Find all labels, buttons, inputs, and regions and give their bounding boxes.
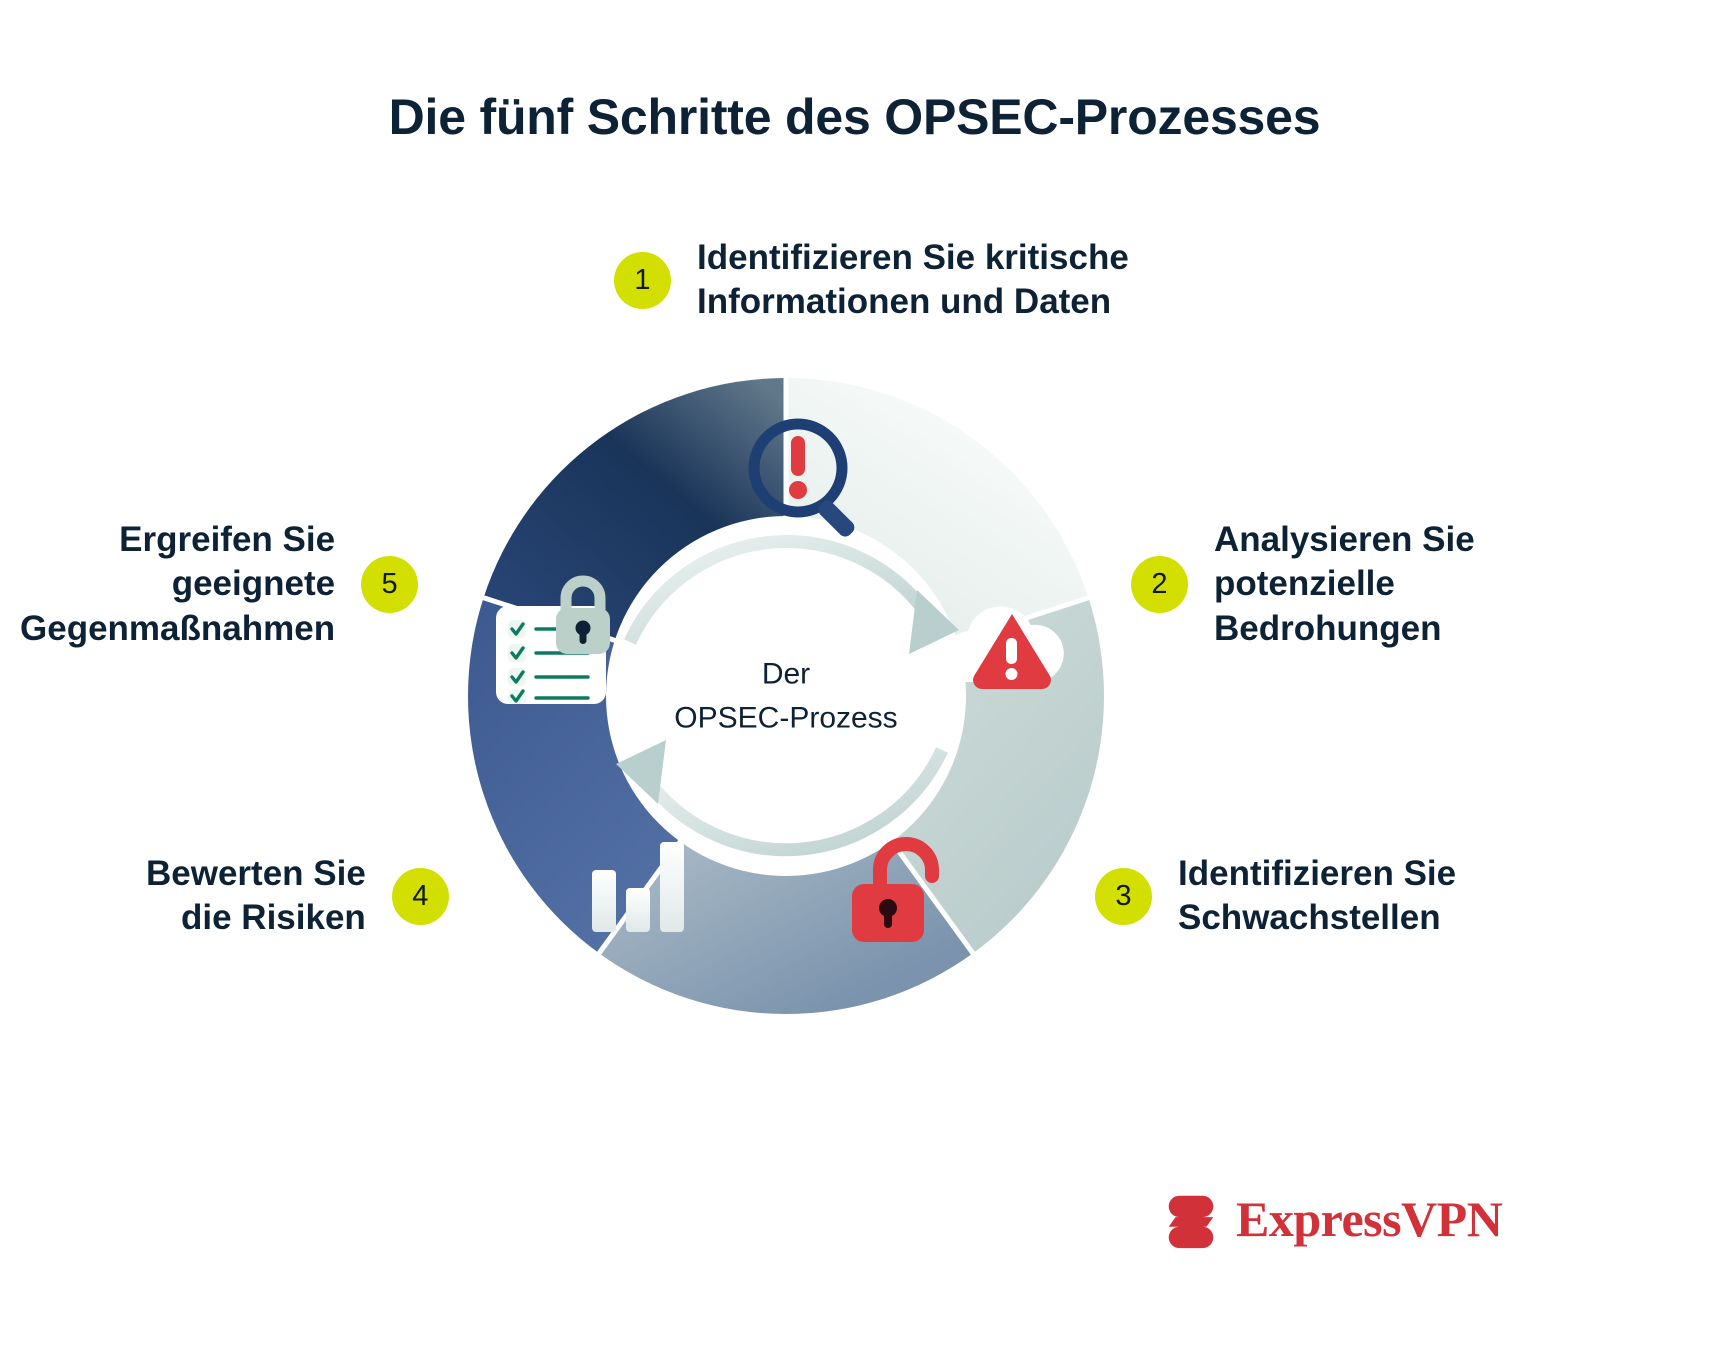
step-5-label: Ergreifen Sie geeignete Gegenmaßnahmen [20,518,335,651]
step-3-label: Identifizieren Sie Schwachstellen [1178,852,1456,941]
page-title: Die fünf Schritte des OPSEC-Prozesses [0,88,1709,146]
step-2-label: Analysieren Sie potenzielle Bedrohungen [1214,518,1475,651]
step-1-badge: 1 [614,252,671,309]
step-1-label: Identifizieren Sie kritische Information… [697,236,1129,325]
donut-hole [606,516,966,876]
step-1[interactable]: 1 Identifizieren Sie kritische Informati… [614,236,1129,325]
step-3-badge: 3 [1095,868,1152,925]
step-5-badge: 5 [361,556,418,613]
step-5[interactable]: Ergreifen Sie geeignete Gegenmaßnahmen 5 [20,518,418,651]
infographic-canvas: Die fünf Schritte des OPSEC-Prozesses [0,0,1709,1361]
step-4-badge: 4 [392,868,449,925]
expressvpn-wordmark: ExpressVPN [1236,1194,1502,1244]
step-3[interactable]: 3 Identifizieren Sie Schwachstellen [1095,852,1456,941]
step-2[interactable]: 2 Analysieren Sie potenzielle Bedrohunge… [1131,518,1475,651]
expressvpn-e-mark-icon [1160,1188,1222,1250]
step-4[interactable]: Bewerten Sie die Risiken 4 [146,852,449,941]
opsec-cycle-donut: Der OPSEC-Prozess [462,372,1110,1020]
donut-svg [462,372,1110,1020]
step-2-badge: 2 [1131,556,1188,613]
expressvpn-logo[interactable]: ExpressVPN [1160,1188,1502,1250]
step-4-label: Bewerten Sie die Risiken [146,852,366,941]
